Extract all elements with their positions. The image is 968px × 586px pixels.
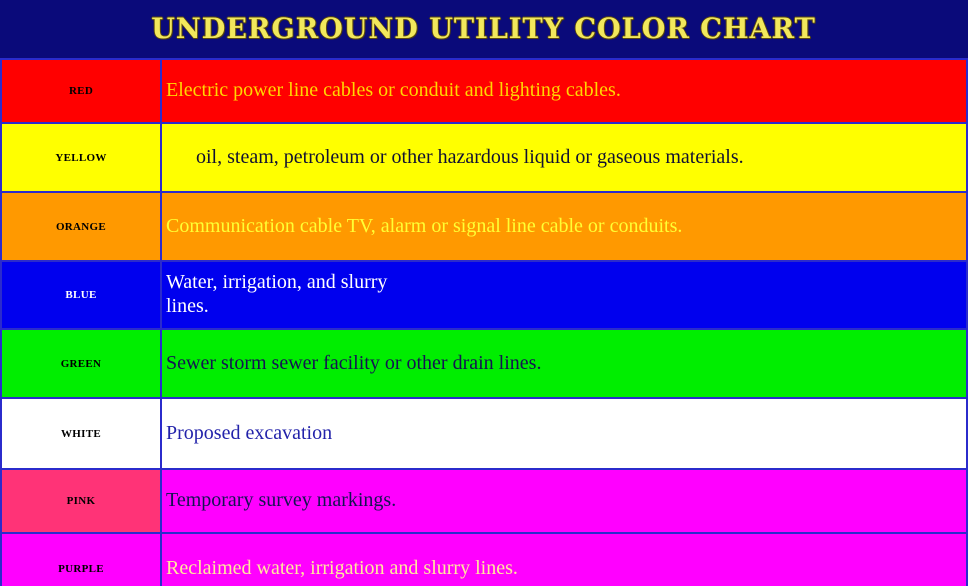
color-swatch-cell-pink: PINK (2, 470, 160, 532)
table-row: ORANGE Communication cable TV, alarm or … (2, 193, 966, 260)
description-cell-pink: Temporary survey markings. (162, 470, 966, 532)
color-label: WHITE (61, 428, 101, 440)
description-cell-purple: Reclaimed water, irrigation and slurry l… (162, 534, 966, 586)
description-cell-white: Proposed excavation (162, 399, 966, 468)
color-swatch-cell-red: RED (2, 60, 160, 122)
table-row: PINK Temporary survey markings. (2, 470, 966, 532)
color-swatch-cell-yellow: YELLOW (2, 124, 160, 191)
description-cell-orange: Communication cable TV, alarm or signal … (162, 193, 966, 260)
color-chart-body: RED Electric power line cables or condui… (2, 60, 966, 586)
table-row: YELLOW oil, steam, petroleum or other ha… (2, 124, 966, 191)
color-swatch-cell-white: WHITE (2, 399, 160, 468)
table-row: WHITE Proposed excavation (2, 399, 966, 468)
color-swatch-cell-blue: BLUE (2, 262, 160, 328)
color-chart-table: RED Electric power line cables or condui… (0, 58, 968, 586)
color-swatch-cell-orange: ORANGE (2, 193, 160, 260)
color-swatch-cell-purple: PURPLE (2, 534, 160, 586)
color-label: YELLOW (55, 152, 106, 164)
utility-color-chart-page: UNDERGROUND UTILITY COLOR CHART RED Elec… (0, 0, 968, 586)
table-row: GREEN Sewer storm sewer facility or othe… (2, 330, 966, 397)
description-cell-red: Electric power line cables or conduit an… (162, 60, 966, 122)
description-cell-yellow: oil, steam, petroleum or other hazardous… (162, 124, 966, 191)
color-swatch-cell-green: GREEN (2, 330, 160, 397)
title-banner: UNDERGROUND UTILITY COLOR CHART (0, 0, 968, 58)
color-label: GREEN (61, 358, 102, 370)
color-label: PINK (67, 495, 96, 507)
color-label: ORANGE (56, 221, 106, 233)
description-cell-blue: Water, irrigation, and slurry lines. (162, 262, 966, 328)
page-title: UNDERGROUND UTILITY COLOR CHART (152, 15, 817, 43)
table-row: RED Electric power line cables or condui… (2, 60, 966, 122)
description-cell-green: Sewer storm sewer facility or other drai… (162, 330, 966, 397)
table-row: PURPLE Reclaimed water, irrigation and s… (2, 534, 966, 586)
table-row: BLUE Water, irrigation, and slurry lines… (2, 262, 966, 328)
color-label: BLUE (65, 289, 96, 301)
color-label: RED (69, 85, 93, 97)
color-label: PURPLE (58, 563, 104, 575)
